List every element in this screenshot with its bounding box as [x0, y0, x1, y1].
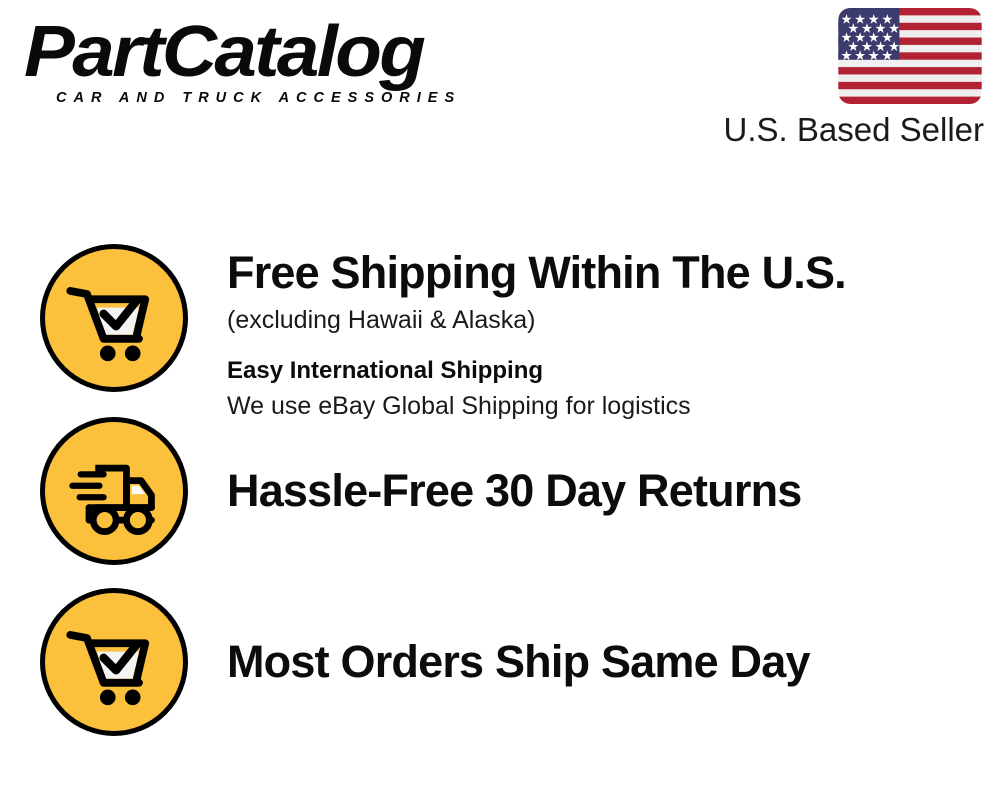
us-based-seller-badge: U.S. Based Seller — [654, 8, 984, 148]
feature-secondary-title: Easy International Shipping — [227, 355, 970, 386]
shopping-cart-check-icon — [40, 588, 188, 736]
brand-logo: PartCatalog CAR AND TRUCK ACCESSORIES — [24, 18, 494, 106]
banner-header: PartCatalog CAR AND TRUCK ACCESSORIES — [0, 0, 1000, 190]
promotional-banner: PartCatalog CAR AND TRUCK ACCESSORIES — [0, 0, 1000, 800]
feature-title: Most Orders Ship Same Day — [227, 637, 970, 687]
feature-text-block: Hassle-Free 30 Day Returns — [188, 466, 970, 516]
feature-text-block: Free Shipping Within The U.S. (excluding… — [188, 244, 970, 423]
feature-item: Most Orders Ship Same Day — [40, 588, 970, 736]
feature-title: Hassle-Free 30 Day Returns — [227, 466, 970, 516]
us-based-seller-label: U.S. Based Seller — [654, 113, 984, 148]
feature-item: Hassle-Free 30 Day Returns — [40, 417, 970, 565]
delivery-truck-icon — [40, 417, 188, 565]
feature-text-block: Most Orders Ship Same Day — [188, 637, 970, 687]
feature-note: (excluding Hawaii & Alaska) — [227, 304, 970, 337]
brand-wordmark: PartCatalog — [24, 18, 522, 87]
feature-item: Free Shipping Within The U.S. (excluding… — [40, 244, 970, 423]
shopping-cart-check-icon — [40, 244, 188, 392]
brand-tagline: CAR AND TRUCK ACCESSORIES — [56, 90, 494, 106]
us-flag-icon — [838, 8, 982, 104]
feature-title: Free Shipping Within The U.S. — [227, 248, 970, 298]
